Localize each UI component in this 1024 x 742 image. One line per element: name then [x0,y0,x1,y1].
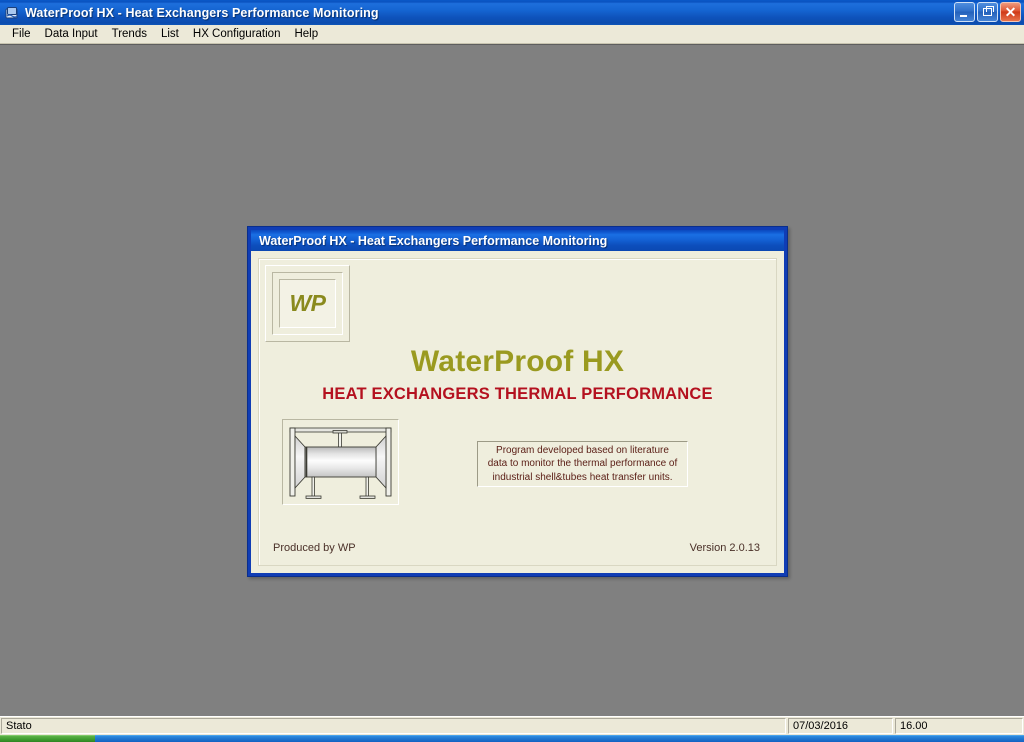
menu-item-hx-configuration[interactable]: HX Configuration [186,27,288,41]
close-button[interactable]: ✕ [1000,2,1021,22]
description-line-1: Program developed based on literature [496,445,669,456]
version-label: Version 2.0.13 [690,542,760,554]
status-pane-date: 07/03/2016 [788,718,893,734]
main-titlebar[interactable]: WaterProof HX - Heat Exchangers Performa… [0,0,1024,25]
statusbar: Stato 07/03/2016 16.00 [0,716,1024,735]
menu-item-file[interactable]: File [5,27,38,41]
splash-window[interactable]: WaterProof HX - Heat Exchangers Performa… [247,226,788,577]
menu-item-help[interactable]: Help [287,27,325,41]
wp-logo: WP [265,265,350,342]
menubar: File Data Input Trends List HX Configura… [0,25,1024,44]
start-button[interactable] [0,735,95,742]
logo-frame-inner: WP [272,272,343,335]
menu-item-trends[interactable]: Trends [105,27,154,41]
close-icon: ✕ [1005,5,1017,19]
taskbar-tasks-area[interactable] [95,735,1024,742]
brand-subtitle: HEAT EXCHANGERS THERMAL PERFORMANCE [259,385,776,404]
splash-client-area: WP WaterProof HX HEAT EXCHANGERS THERMAL… [251,251,784,573]
screen: WaterProof HX - Heat Exchangers Performa… [0,0,1024,742]
restore-icon [983,8,992,16]
app-icon [4,5,20,21]
restore-button[interactable] [977,2,998,22]
minimize-button[interactable] [954,2,975,22]
splash-window-title: WaterProof HX - Heat Exchangers Performa… [259,234,607,248]
description-line-2: data to monitor the thermal performance … [488,458,678,469]
minimize-icon [960,15,967,17]
brand-title: WaterProof HX [259,345,776,379]
description-line-3: industrial shell&tubes heat transfer uni… [492,472,672,483]
window-controls: ✕ [954,2,1021,22]
produced-by-label: Produced by WP [273,542,356,554]
description-box: Program developed based on literature da… [477,441,688,487]
logo-text: WP [289,292,325,315]
menu-item-data-input[interactable]: Data Input [38,27,105,41]
splash-panel: WP WaterProof HX HEAT EXCHANGERS THERMAL… [258,258,777,566]
heat-exchanger-diagram [282,419,399,505]
status-pane-time: 16.00 [895,718,1023,734]
menu-item-list[interactable]: List [154,27,186,41]
splash-titlebar[interactable]: WaterProof HX - Heat Exchangers Performa… [251,230,784,251]
taskbar [0,735,1024,742]
logo-frame-innermost: WP [279,279,336,328]
mdi-client-area: WaterProof HX - Heat Exchangers Performa… [0,44,1024,716]
description-text: Program developed based on literature da… [485,444,681,484]
main-window-title: WaterProof HX - Heat Exchangers Performa… [25,6,379,20]
status-pane-message: Stato [1,718,786,734]
main-application-window: WaterProof HX - Heat Exchangers Performa… [0,0,1024,735]
